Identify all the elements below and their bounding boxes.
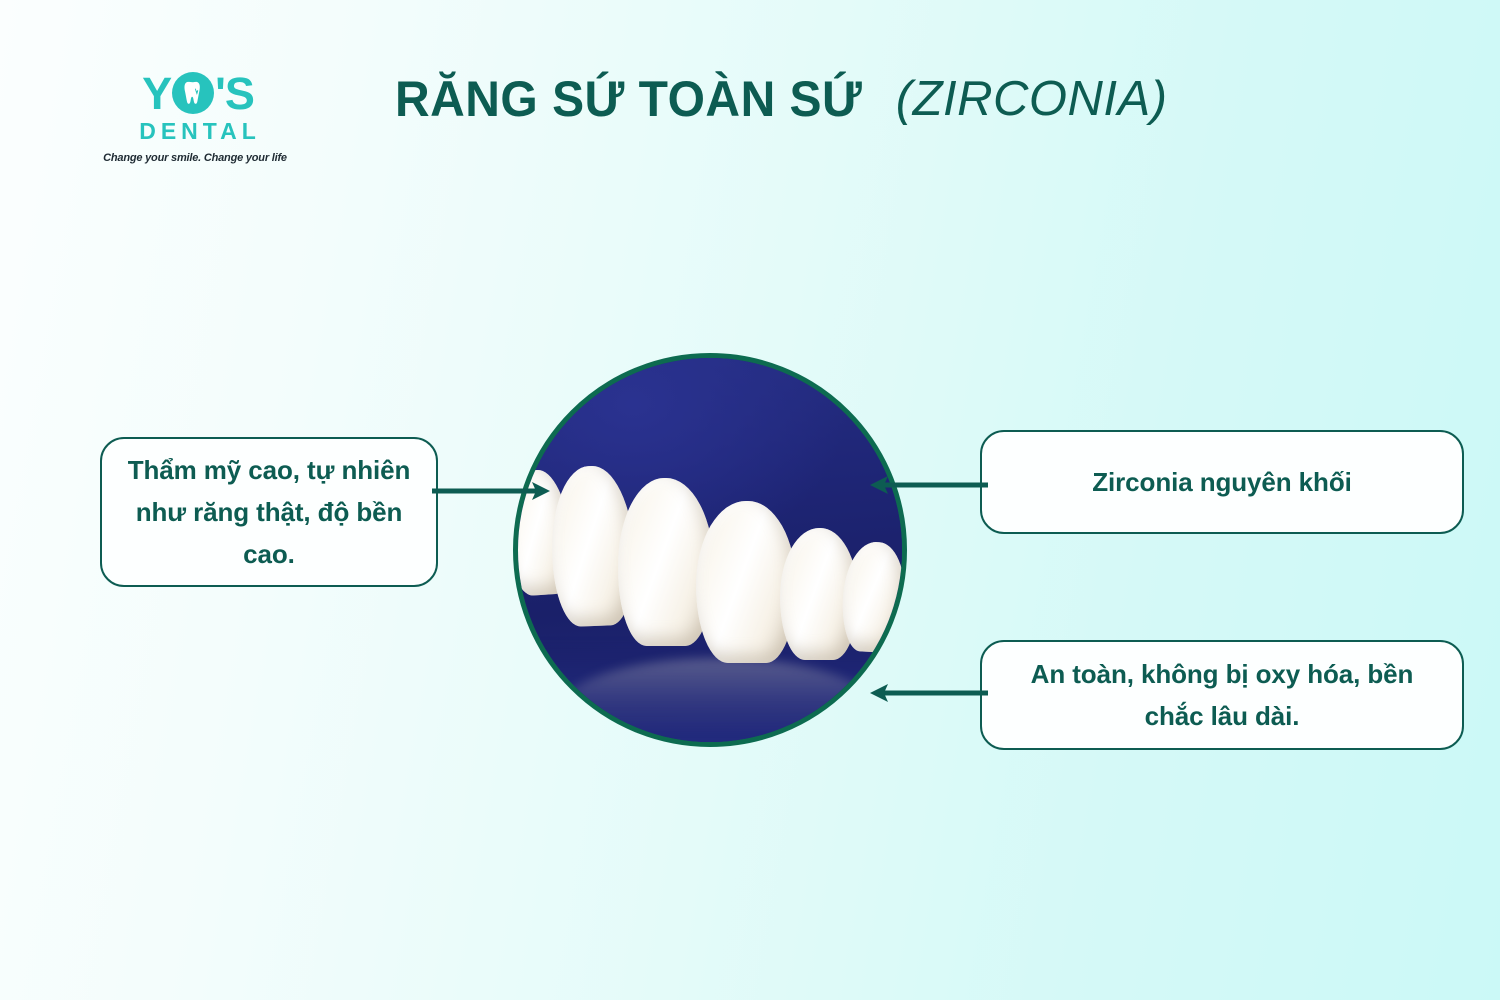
logo-letter-s: 'S (215, 71, 254, 116)
center-image-circle (513, 353, 907, 747)
tooth-icon (183, 81, 203, 105)
logo-dental-word: DENTAL (108, 118, 288, 145)
page-title-main: RĂNG SỨ TOÀN SỨ (395, 70, 862, 128)
arrow-left-to-circle-icon (432, 468, 552, 514)
arrow-right-top-to-circle-icon (862, 462, 988, 508)
callout-right-top-text: Zirconia nguyên khối (1092, 461, 1351, 503)
logo-letter-o (172, 72, 214, 114)
arrow-right-bottom-to-circle-icon (860, 670, 988, 716)
callout-box-right-top[interactable]: Zirconia nguyên khối (980, 430, 1464, 534)
callout-right-bottom-text: An toàn, không bị oxy hóa, bền chắc lâu … (1002, 653, 1442, 737)
logo-tagline: Change your smile. Change your life (102, 152, 288, 164)
callout-box-right-bottom[interactable]: An toàn, không bị oxy hóa, bền chắc lâu … (980, 640, 1464, 750)
logo-wordmark: Y 'S (108, 70, 288, 116)
zirconia-teeth-photo (518, 358, 902, 742)
page-title-parenthetical: (ZIRCONIA) (896, 70, 1168, 128)
callout-left-text: Thẩm mỹ cao, tự nhiên như răng thật, độ … (122, 449, 416, 575)
callout-box-left[interactable]: Thẩm mỹ cao, tự nhiên như răng thật, độ … (100, 437, 438, 587)
brand-logo[interactable]: Y 'S DENTAL Change your smile. Change yo… (108, 70, 288, 166)
logo-letter-y: Y (142, 71, 171, 116)
page-title: RĂNG SỨ TOÀN SỨ (ZIRCONIA) (395, 68, 1168, 130)
infographic-canvas: Y 'S DENTAL Change your smile. Change yo… (0, 0, 1500, 1000)
